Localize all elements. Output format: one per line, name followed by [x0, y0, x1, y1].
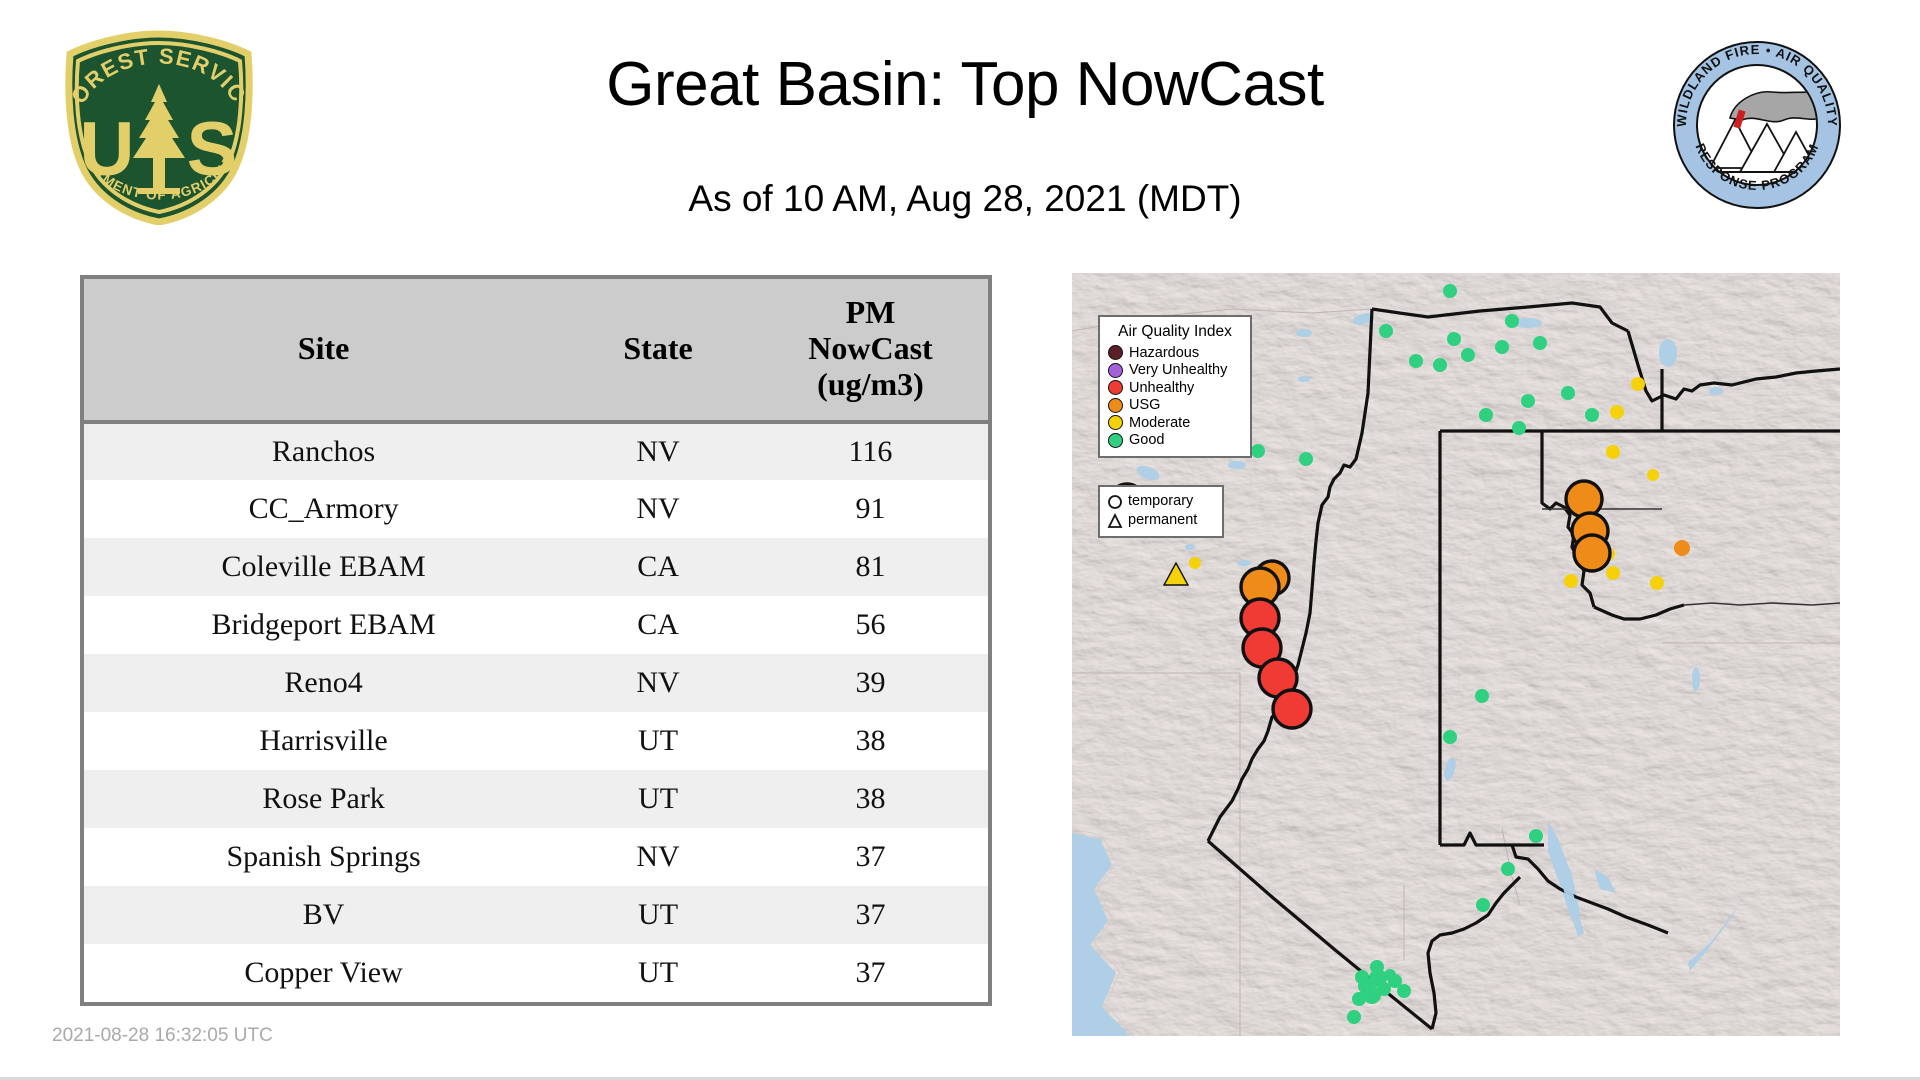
- cell-state: UT: [563, 770, 753, 828]
- svg-text:S: S: [187, 107, 238, 192]
- table-row: CC_Armory NV 91: [84, 480, 988, 538]
- legend-title: Air Quality Index: [1108, 323, 1242, 341]
- legend-item-very-unhealthy: Very Unhealthy: [1108, 362, 1242, 380]
- unhealthy-color-swatch-icon: [1108, 380, 1123, 395]
- cell-state: UT: [563, 712, 753, 770]
- page-title: Great Basin: Top NowCast: [300, 52, 1630, 117]
- generated-timestamp: 2021-08-28 16:32:05 UTC: [52, 1025, 273, 1047]
- cell-site: Bridgeport EBAM: [84, 596, 563, 654]
- table-row: Coleville EBAM CA 81: [84, 538, 988, 596]
- hazardous-color-swatch-icon: [1108, 345, 1123, 360]
- legend-item-usg: USG: [1108, 397, 1242, 415]
- cell-pm: 91: [753, 480, 988, 538]
- column-header-pm-line2: NowCast: [757, 331, 984, 367]
- legend-label: USG: [1129, 398, 1160, 413]
- legend-item-moderate: Moderate: [1108, 414, 1242, 432]
- cell-state: NV: [563, 480, 753, 538]
- legend-label: Good: [1129, 433, 1164, 448]
- legend-label: temporary: [1128, 494, 1193, 509]
- legend-item-temporary: temporary: [1107, 492, 1215, 511]
- cell-pm: 81: [753, 538, 988, 596]
- circle-marker-icon: [1107, 494, 1123, 510]
- site-type-legend: temporary permanent: [1098, 485, 1224, 538]
- cell-pm: 37: [753, 886, 988, 944]
- cell-site: Ranchos: [84, 422, 563, 480]
- column-header-site: Site: [84, 279, 563, 422]
- cell-pm: 38: [753, 712, 988, 770]
- table-row: Ranchos NV 116: [84, 422, 988, 480]
- page-subtitle: As of 10 AM, Aug 28, 2021 (MDT): [300, 178, 1630, 220]
- cell-site: BV: [84, 886, 563, 944]
- table-row: Bridgeport EBAM CA 56: [84, 596, 988, 654]
- cell-state: NV: [563, 828, 753, 886]
- table-header-row: Site State PM NowCast (ug/m3): [84, 279, 988, 422]
- legend-item-unhealthy: Unhealthy: [1108, 379, 1242, 397]
- cell-pm: 39: [753, 654, 988, 712]
- slide-root: FOREST SERVICE DEPARTMENT OF AGRICULTURE…: [0, 0, 1920, 1080]
- usda-forest-service-shield-logo: FOREST SERVICE DEPARTMENT OF AGRICULTURE…: [52, 30, 267, 225]
- table-row: BV UT 37: [84, 886, 988, 944]
- cell-state: CA: [563, 596, 753, 654]
- cell-state: UT: [563, 944, 753, 1002]
- column-header-state: State: [563, 279, 753, 422]
- top-nowcast-table: Site State PM NowCast (ug/m3) Ranchos NV…: [80, 275, 992, 1006]
- legend-item-good: Good: [1108, 432, 1242, 450]
- moderate-color-swatch-icon: [1108, 415, 1123, 430]
- usg-color-swatch-icon: [1108, 398, 1123, 413]
- cell-pm: 37: [753, 944, 988, 1002]
- legend-label: Hazardous: [1129, 346, 1199, 361]
- cell-pm: 38: [753, 770, 988, 828]
- svg-text:U: U: [80, 107, 135, 192]
- column-header-pm-nowcast: PM NowCast (ug/m3): [753, 279, 988, 422]
- usg-small-monitors: [1674, 540, 1690, 556]
- cell-site: Spanish Springs: [84, 828, 563, 886]
- cell-state: UT: [563, 886, 753, 944]
- very-unhealthy-color-swatch-icon: [1108, 363, 1123, 378]
- air-quality-monitor-map[interactable]: Air Quality Index Hazardous Very Unhealt…: [1072, 273, 1840, 1036]
- table-row: Copper View UT 37: [84, 944, 988, 1002]
- legend-item-hazardous: Hazardous: [1108, 344, 1242, 362]
- table-row: Harrisville UT 38: [84, 712, 988, 770]
- wildland-fire-air-quality-logo: WILDLAND FIRE • AIR QUALITY RESPONSE PRO…: [1672, 40, 1842, 210]
- legend-label: Unhealthy: [1129, 381, 1194, 396]
- table-row: Rose Park UT 38: [84, 770, 988, 828]
- legend-item-permanent: permanent: [1107, 511, 1215, 530]
- cell-state: NV: [563, 654, 753, 712]
- cell-site: Harrisville: [84, 712, 563, 770]
- triangle-marker-icon: [1107, 513, 1123, 529]
- cell-site: Rose Park: [84, 770, 563, 828]
- legend-label: permanent: [1128, 513, 1197, 528]
- column-header-pm-line3: (ug/m3): [757, 367, 984, 403]
- legend-label: Moderate: [1129, 416, 1190, 431]
- cell-pm: 37: [753, 828, 988, 886]
- column-header-pm-line1: PM: [757, 295, 984, 331]
- good-color-swatch-icon: [1108, 433, 1123, 448]
- cell-site: CC_Armory: [84, 480, 563, 538]
- cell-state: NV: [563, 422, 753, 480]
- cell-pm: 116: [753, 422, 988, 480]
- left-edge-nub: [0, 36, 9, 62]
- cell-site: Copper View: [84, 944, 563, 1002]
- air-quality-index-legend: Air Quality Index Hazardous Very Unhealt…: [1098, 315, 1252, 458]
- table-row: Spanish Springs NV 37: [84, 828, 988, 886]
- cell-state: CA: [563, 538, 753, 596]
- cell-site: Coleville EBAM: [84, 538, 563, 596]
- cell-site: Reno4: [84, 654, 563, 712]
- table-row: Reno4 NV 39: [84, 654, 988, 712]
- cell-pm: 56: [753, 596, 988, 654]
- legend-label: Very Unhealthy: [1129, 363, 1227, 378]
